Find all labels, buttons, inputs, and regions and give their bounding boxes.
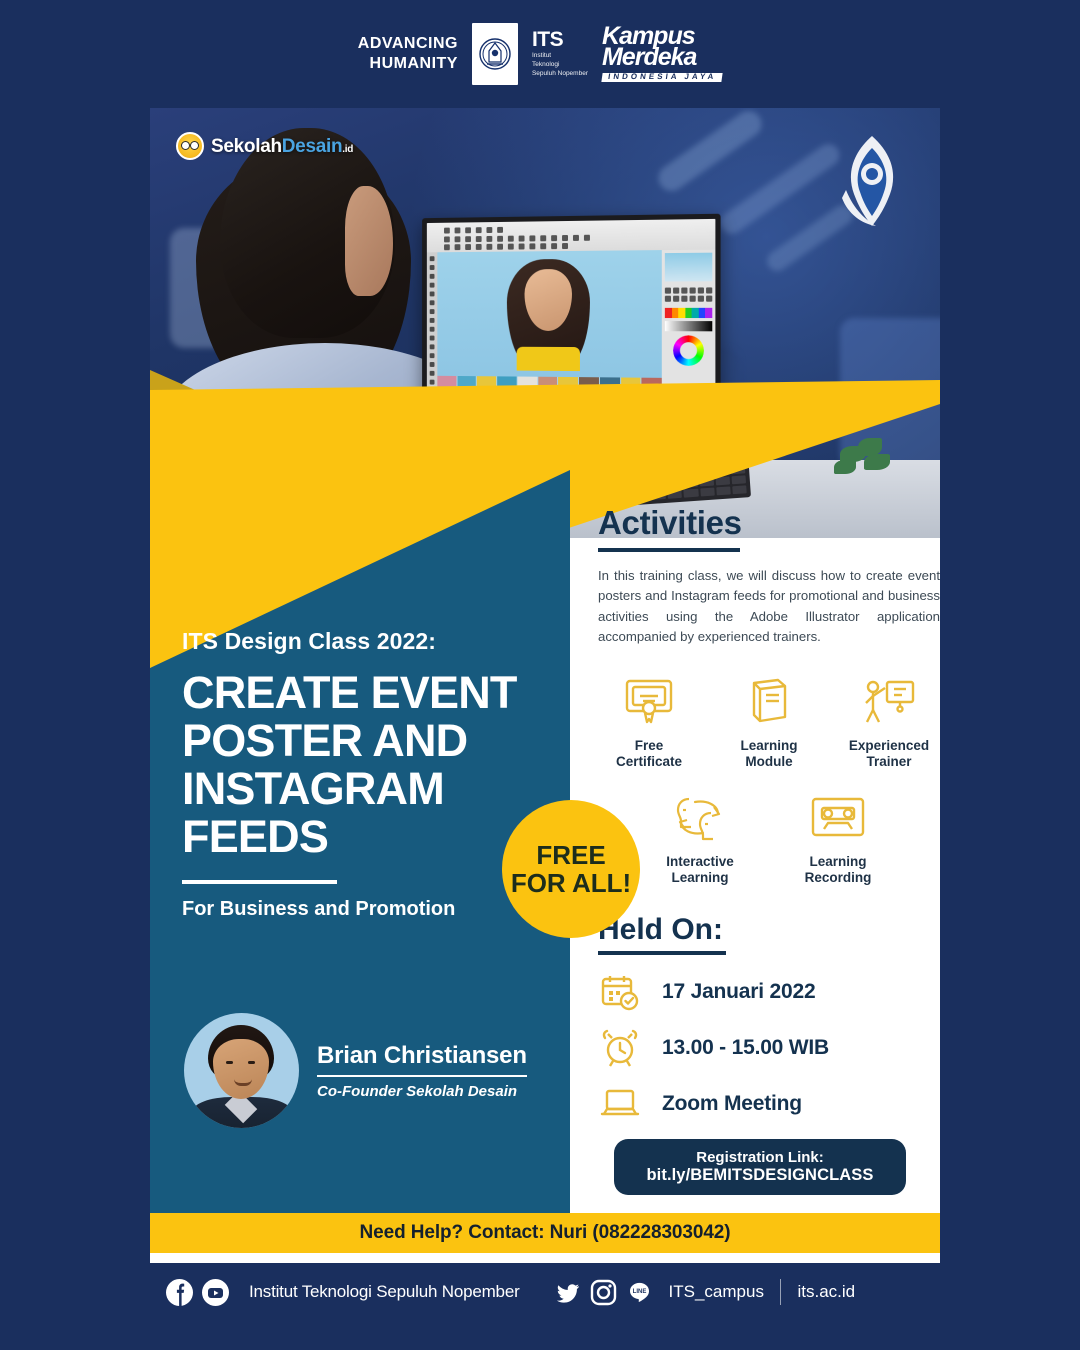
calendar-check-icon xyxy=(598,971,642,1013)
footer-website: its.ac.id xyxy=(797,1282,855,1302)
feature-label-line-2: Certificate xyxy=(598,754,700,770)
feature-free-certificate: Free Certificate xyxy=(598,670,700,770)
poster-root: ADVANCING HUMANITY ITS Institut Teknolog… xyxy=(0,0,1080,1350)
features-row-2: Interactive Learning xyxy=(598,786,940,886)
footer-divider xyxy=(780,1279,782,1305)
feature-label-line-1: Experienced xyxy=(838,738,940,754)
registration-label: Registration Link: xyxy=(614,1149,906,1166)
speaker-info: Brian Christiansen Co-Founder Sekolah De… xyxy=(317,1042,527,1100)
kampus-tagline: INDONESIA JAYA xyxy=(601,73,722,82)
footer-handle: ITS_campus xyxy=(669,1282,764,1302)
alarm-clock-icon xyxy=(598,1027,642,1069)
feature-label-line-1: Learning xyxy=(718,738,820,754)
activities-paragraph: In this training class, we will discuss … xyxy=(598,566,940,648)
feature-label-line-2: Module xyxy=(718,754,820,770)
feature-experienced-trainer: Experienced Trainer xyxy=(838,670,940,770)
headline-line-1: CREATE EVENT xyxy=(182,669,582,717)
kampus-line-2: Merdeka xyxy=(602,47,722,68)
svg-text:LINE: LINE xyxy=(632,1289,646,1295)
feature-label: Experienced Trainer xyxy=(838,738,940,770)
feature-label-line-2: Learning xyxy=(648,870,752,886)
held-on-row-date: 17 Januari 2022 xyxy=(598,971,940,1013)
top-logo-bar: ADVANCING HUMANITY ITS Institut Teknolog… xyxy=(0,0,1080,108)
its-sub-line-1: Institut xyxy=(532,52,588,61)
feature-interactive-learning: Interactive Learning xyxy=(648,786,752,886)
speaker-avatar xyxy=(184,1013,299,1128)
feature-label-line-1: Learning xyxy=(786,854,890,870)
held-on-title: Held On: xyxy=(598,913,940,947)
feature-label: Interactive Learning xyxy=(648,854,752,886)
footer-institution: Institut Teknologi Sepuluh Nopember xyxy=(249,1282,520,1302)
speaker-block: Brian Christiansen Co-Founder Sekolah De… xyxy=(184,1013,527,1128)
its-abbr: ITS xyxy=(532,29,588,50)
feature-learning-recording: Learning Recording xyxy=(786,786,890,886)
held-on-platform: Zoom Meeting xyxy=(662,1092,802,1116)
features-grid: Free Certificate xyxy=(598,670,940,887)
twitter-icon[interactable] xyxy=(554,1279,581,1306)
feature-label: Learning Recording xyxy=(786,854,890,886)
contact-text: Need Help? Contact: Nuri (082228303042) xyxy=(360,1222,731,1244)
event-kicker: ITS Design Class 2022: xyxy=(182,628,582,655)
advancing-line-1: ADVANCING xyxy=(358,34,458,54)
feature-label-line-1: Free xyxy=(598,738,700,754)
its-logo-mark xyxy=(472,23,518,85)
activities-title-underline xyxy=(598,548,740,552)
youtube-icon[interactable] xyxy=(202,1279,229,1306)
book-icon xyxy=(718,670,820,732)
its-wordmark: ITS Institut Teknologi Sepuluh Nopember xyxy=(532,29,588,78)
free-for-all-badge: FREE FOR ALL! xyxy=(502,800,640,938)
line-icon[interactable]: LINE xyxy=(626,1279,653,1306)
activities-title: Activities xyxy=(598,504,940,542)
held-on-section: Held On: xyxy=(598,913,940,1195)
its-sub-line-3: Sepuluh Nopember xyxy=(532,70,588,79)
feature-learning-module: Learning Module xyxy=(718,670,820,770)
footer-icons-right: LINE xyxy=(554,1279,653,1306)
feature-label-line-2: Trainer xyxy=(838,754,940,770)
speaker-role: Co-Founder Sekolah Desain xyxy=(317,1083,527,1100)
kampus-merdeka-logo: Kampus Merdeka INDONESIA JAYA xyxy=(602,26,722,82)
feature-label: Learning Module xyxy=(718,738,820,770)
trainer-icon xyxy=(838,670,940,732)
instagram-icon[interactable] xyxy=(590,1279,617,1306)
held-on-underline xyxy=(598,951,726,955)
its-sub-line-2: Teknologi xyxy=(532,61,588,70)
feature-label: Free Certificate xyxy=(598,738,700,770)
feature-label-line-2: Recording xyxy=(786,870,890,886)
held-on-time: 13.00 - 15.00 WIB xyxy=(662,1036,829,1060)
cassette-icon xyxy=(786,786,890,848)
contact-bar: Need Help? Contact: Nuri (082228303042) xyxy=(150,1213,940,1253)
registration-url: bit.ly/BEMITSDESIGNCLASS xyxy=(614,1166,906,1185)
laptop-icon xyxy=(598,1083,642,1125)
poster-card: SekolahDesain.id ITS Design Class 2022: … xyxy=(150,108,940,1263)
feature-label-line-1: Interactive xyxy=(648,854,752,870)
footer-icons-left xyxy=(166,1279,229,1306)
social-footer: Institut Teknologi Sepuluh Nopember LINE xyxy=(150,1262,940,1322)
advancing-humanity-text: ADVANCING HUMANITY xyxy=(358,34,458,74)
held-on-row-platform: Zoom Meeting xyxy=(598,1083,940,1125)
its-emblem-icon xyxy=(477,32,513,76)
headline-divider xyxy=(182,880,337,884)
badge-line-1: FREE xyxy=(536,841,605,869)
features-row-1: Free Certificate xyxy=(598,670,940,770)
facebook-icon[interactable] xyxy=(166,1279,193,1306)
held-on-date: 17 Januari 2022 xyxy=(662,980,815,1004)
advancing-line-2: HUMANITY xyxy=(358,54,458,74)
speaker-name: Brian Christiansen xyxy=(317,1042,527,1077)
headline-line-3: INSTAGRAM xyxy=(182,765,582,813)
registration-link-button[interactable]: Registration Link: bit.ly/BEMITSDESIGNCL… xyxy=(614,1139,906,1195)
certificate-icon xyxy=(598,670,700,732)
badge-line-2: FOR ALL! xyxy=(511,869,631,897)
held-on-row-time: 13.00 - 15.00 WIB xyxy=(598,1027,940,1069)
interaction-icon xyxy=(648,786,752,848)
activities-panel: Activities In this training class, we wi… xyxy=(598,504,940,1195)
headline-line-2: POSTER AND xyxy=(182,717,582,765)
